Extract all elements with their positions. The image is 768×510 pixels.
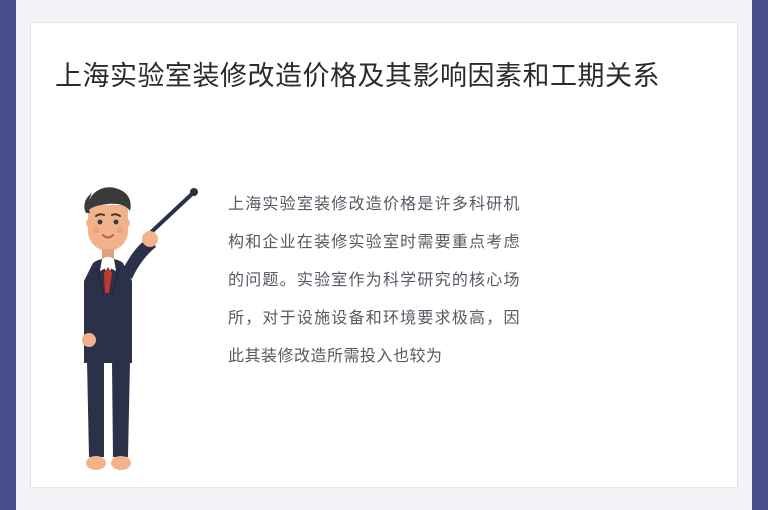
illustration-man-with-pointer [60, 175, 210, 480]
head [84, 187, 130, 261]
page-root: 上海实验室装修改造价格及其影响因素和工期关系 [0, 0, 768, 510]
article-body: 上海实验室装修改造价格是许多科研机构和企业在装修实验室时需要重点考虑的问题。实验… [228, 186, 520, 376]
page-title: 上海实验室装修改造价格及其影响因素和工期关系 [55, 55, 715, 97]
left-accent-bar [0, 0, 16, 510]
pointer-stick-icon [146, 188, 198, 237]
right-accent-bar [752, 0, 768, 510]
suit-body [82, 257, 132, 363]
legs [86, 361, 131, 470]
